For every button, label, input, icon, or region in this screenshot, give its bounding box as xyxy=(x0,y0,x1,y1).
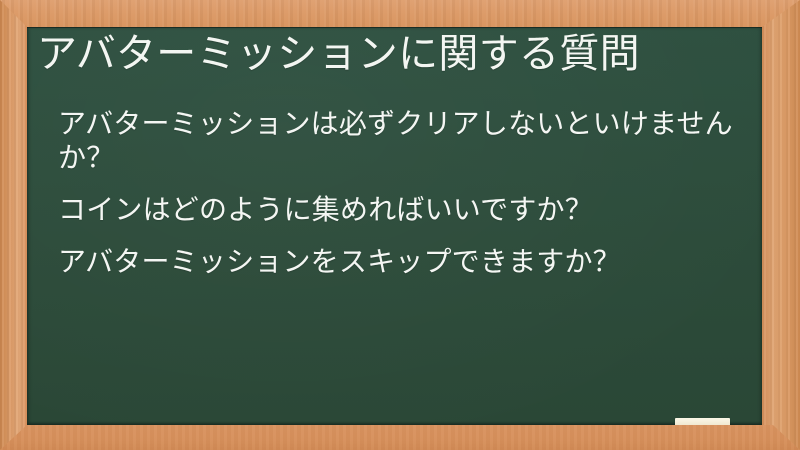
question-item: アバターミッションは必ずクリアしないといけませんか？ xyxy=(58,107,738,175)
question-item: コインはどのように集めればいいですか？ xyxy=(58,193,738,227)
chalkboard-surface: アバターミッションに関する質問 アバターミッションは必ずクリアしないといけません… xyxy=(27,27,762,425)
chalkboard-frame: アバターミッションに関する質問 アバターミッションは必ずクリアしないといけません… xyxy=(0,0,800,450)
question-list: アバターミッションは必ずクリアしないといけませんか？ コインはどのように集めれば… xyxy=(58,107,738,279)
wood-frame-right xyxy=(762,0,800,450)
board-title: アバターミッションに関する質問 xyxy=(37,29,748,79)
wood-frame-bottom xyxy=(0,425,800,450)
question-item: アバターミッションをスキップできますか？ xyxy=(58,245,738,279)
chalk-stick-icon xyxy=(675,418,730,425)
wood-frame-top xyxy=(0,0,800,27)
wood-frame-left xyxy=(0,0,27,450)
